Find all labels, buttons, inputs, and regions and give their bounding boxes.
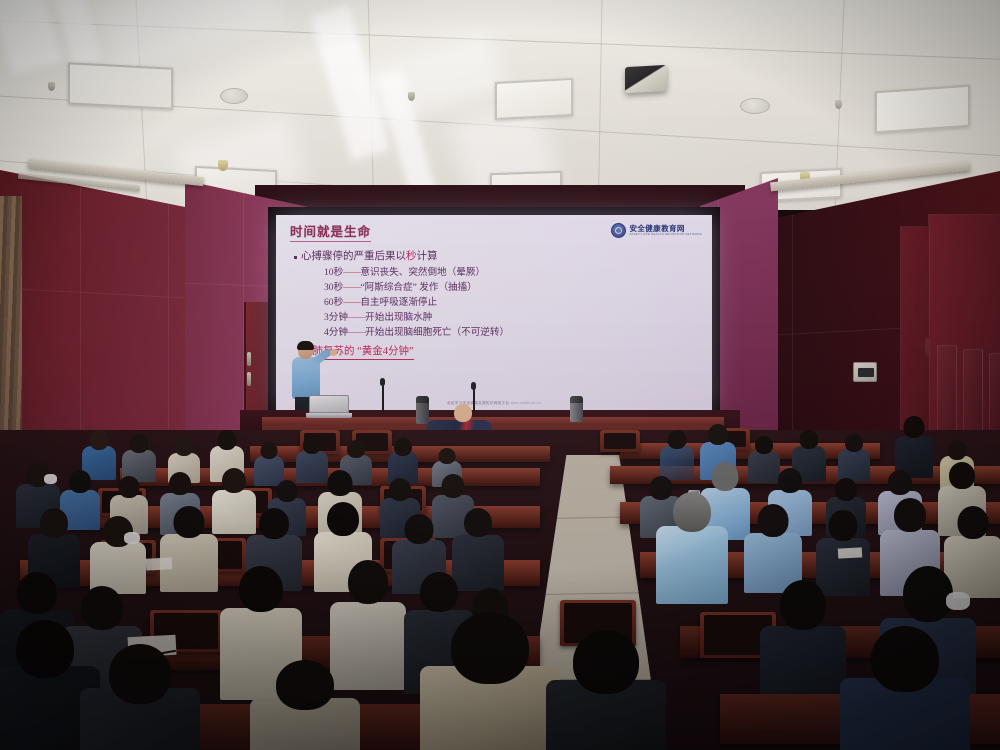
paper-sheet [146, 557, 173, 570]
slide-line: 4分钟——开始出现脑细胞死亡（不可逆转） [324, 327, 700, 339]
person [80, 644, 200, 750]
slide-title: 时间就是生命 [290, 226, 371, 242]
face-mask [44, 474, 57, 484]
line-text: “阿斯综合症” 发作（抽搐） [360, 282, 476, 293]
person [840, 626, 970, 750]
face-mask [946, 592, 970, 610]
shield-emblem-icon [611, 223, 626, 238]
person [254, 442, 284, 484]
ceiling-vent-icon [740, 98, 770, 114]
sprinkler-icon [835, 100, 842, 109]
person [838, 434, 870, 480]
ceiling-light-panel [495, 78, 573, 120]
wall-control-panel[interactable] [853, 362, 877, 382]
slide-bullet: 心搏骤停的严重后果以秒计算 [294, 251, 700, 264]
laptop [306, 395, 352, 421]
person [160, 506, 218, 590]
footer-url: www.safehoo.cn [511, 401, 541, 405]
line-time: 60秒 [324, 297, 343, 308]
microphone-head-icon [380, 378, 385, 386]
sprinkler-icon [218, 160, 228, 171]
person [895, 416, 933, 476]
line-time: 4分钟 [324, 327, 348, 338]
line-dash: —— [343, 282, 360, 293]
slide-logo: 安全健康教育网 SAFETY AND HEALTH EDUCATION NETW… [611, 223, 702, 238]
line-time: 3分钟 [324, 312, 348, 323]
line-text: 自主呼吸逐渐停止 [360, 297, 437, 308]
line-dash: —— [343, 267, 360, 278]
person [660, 430, 694, 478]
sprinkler-icon [408, 92, 415, 101]
slide-body: 心搏骤停的严重后果以秒计算 10秒——意识丧失、突然倒地（晕厥） 30秒——“阿… [290, 251, 700, 361]
projector-icon [625, 65, 667, 93]
person [388, 438, 418, 482]
line-time: 30秒 [324, 282, 343, 293]
person [452, 404, 474, 426]
presenter-hand [330, 349, 337, 356]
microphone-head-icon [471, 382, 476, 390]
person [656, 492, 728, 602]
logo-subtitle: SAFETY AND HEALTH EDUCATION NETWORK [629, 233, 702, 236]
sprinkler-icon [48, 82, 55, 91]
ceiling-light-panel [68, 62, 173, 110]
projection-screen: 安全健康教育网 SAFETY AND HEALTH EDUCATION NETW… [276, 215, 712, 411]
lecture-hall-photo: 安全健康教育网 SAFETY AND HEALTH EDUCATION NETW… [0, 0, 1000, 750]
slide-line: 60秒——自主呼吸逐渐停止 [324, 297, 700, 309]
thermos [570, 396, 583, 422]
door-handle [247, 352, 251, 366]
microphone-stand [382, 384, 384, 414]
line-dash: —— [348, 327, 365, 338]
face-mask [124, 532, 140, 544]
slide-line: 3分钟——开始出现脑水肿 [324, 312, 700, 324]
person [744, 504, 802, 592]
ceiling-light-panel [875, 85, 970, 134]
paper-sheet [838, 547, 862, 558]
presenter-hair [297, 341, 314, 350]
bullet-dot-icon [294, 256, 297, 259]
bullet-suffix: 计算 [417, 251, 438, 262]
bullet-prefix: 心搏骤停的严重后果以 [301, 251, 406, 262]
line-dash: —— [343, 297, 360, 308]
bullet-highlight: 秒 [406, 251, 417, 262]
person [90, 516, 146, 592]
line-text: 开始出现脑细胞死亡（不可逆转） [365, 327, 509, 338]
presenter-pointing-arm [310, 348, 333, 367]
person [122, 434, 156, 480]
line-text: 意识丧失、突然倒地（晕厥） [360, 267, 485, 278]
person [546, 630, 666, 750]
chair [600, 430, 640, 452]
slide-line: 30秒——“阿斯综合症” 发作（抽搐） [324, 282, 700, 294]
line-dash: —— [348, 312, 365, 323]
line-text: 开始出现脑水肿 [365, 312, 432, 323]
line-time: 10秒 [324, 267, 343, 278]
person [420, 612, 560, 750]
ceiling-vent-icon [220, 88, 248, 104]
person [250, 660, 360, 750]
door-handle [247, 372, 251, 386]
slide-line: 10秒——意识丧失、突然倒地（晕厥） [324, 267, 700, 279]
logo-name: 安全健康教育网 [629, 225, 702, 233]
